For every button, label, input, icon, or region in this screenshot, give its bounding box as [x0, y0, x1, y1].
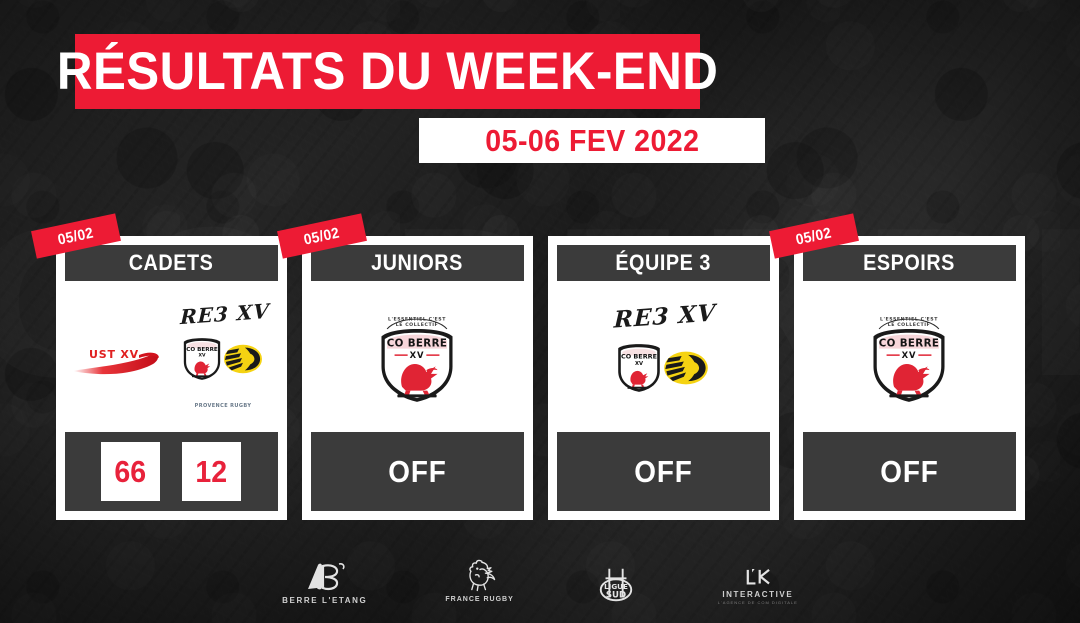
re3-xv-logo: RE3 XV CO BERRE XV [605, 299, 721, 415]
category-label: CADETS [129, 250, 214, 276]
card-status-strip: OFF [803, 432, 1016, 511]
date-ribbon-label: 05/02 [56, 224, 95, 248]
result-card-equipe-3[interactable]: ÉQUIPE 3 RE3 XV CO BERRE XV [548, 236, 779, 520]
card-header: JUNIORS [311, 245, 524, 281]
re3-xv-script: RE3 XV [175, 298, 276, 329]
svg-text:XV: XV [635, 360, 643, 366]
sponsor-france-rugby: FRANCE RUGBY [445, 556, 513, 605]
result-card-espoirs[interactable]: 05/02 ESPOIRS L'ESSENTIEL C'EST LE COLLE… [794, 236, 1025, 520]
ust-xv-logo: UST XV [69, 331, 165, 383]
sponsor-berre-letang: BERRE L'ETANG [282, 560, 367, 605]
svg-text:XV: XV [902, 349, 917, 359]
category-label: ESPOIRS [863, 250, 955, 276]
provence-rugby-label: PROVENCE RUGBY [173, 403, 273, 409]
sponsor-label: BERRE L'ETANG [282, 596, 367, 605]
poster-canvas: CO BERRE RÉSULTATS DU WEEK-END 05-06 FEV… [0, 0, 1080, 623]
status-label: OFF [634, 454, 693, 490]
status-label: OFF [388, 454, 447, 490]
date-range-text: 05-06 FEV 2022 [485, 123, 699, 159]
card-status-strip: OFF [311, 432, 524, 511]
svg-text:CO BERRE: CO BERRE [387, 337, 448, 349]
co-berre-xv-crest: L'ESSENTIEL C'EST LE COLLECTIF CO BERRE … [866, 308, 952, 406]
co-berre-crest-small: CO BERRE XV [616, 342, 662, 394]
card-header: ESPOIRS [803, 245, 1016, 281]
svg-text:LE COLLECTIF: LE COLLECTIF [888, 322, 931, 328]
card-logos: RE3 XV CO BERRE XV [557, 281, 770, 432]
sponsor-label: FRANCE RUGBY [445, 596, 513, 605]
card-logos: UST XV RE3 XV CO BERRE XV [65, 281, 278, 432]
card-header: ÉQUIPE 3 [557, 245, 770, 281]
result-card-cadets[interactable]: 05/02 CADETS [56, 236, 287, 520]
co-berre-xv-crest: L'ESSENTIEL C'EST LE COLLECTIF CO BERRE … [374, 308, 460, 406]
sponsor-label: INTERACTIVE [722, 590, 793, 599]
page-title-banner: RÉSULTATS DU WEEK-END [75, 34, 700, 109]
score-away-box: 12 [182, 442, 241, 501]
sponsor-lk-interactive: INTERACTIVE L'AGENCE DE COM DIGITALE [718, 567, 798, 605]
card-logos: L'ESSENTIEL C'EST LE COLLECTIF CO BERRE … [803, 281, 1016, 432]
svg-text:L'ESSENTIEL C'EST: L'ESSENTIEL C'EST [880, 316, 938, 322]
re3-xv-logo: RE3 XV CO BERRE XV [173, 302, 273, 412]
category-label: JUNIORS [371, 250, 463, 276]
ust-xv-label: UST XV [89, 348, 139, 361]
re3-xv-club-logos: CO BERRE XV [605, 333, 721, 403]
card-status-strip: OFF [557, 432, 770, 511]
card-logos: L'ESSENTIEL C'EST LE COLLECTIF CO BERRE … [311, 281, 524, 432]
provence-rugby-logo [222, 340, 264, 378]
svg-text:CO BERRE: CO BERRE [879, 337, 940, 349]
page-title: RÉSULTATS DU WEEK-END [57, 41, 718, 102]
sponsor-ligue-sud: LIGUE SUD [592, 565, 640, 605]
sponsor-row: BERRE L'ETANG FRANCE RUGBY [0, 556, 1080, 605]
svg-text:LE COLLECTIF: LE COLLECTIF [396, 322, 439, 328]
france-rugby-rooster-logo [460, 556, 500, 594]
ligue-sud-logo: LIGUE SUD [592, 565, 640, 605]
svg-text:CO BERRE: CO BERRE [621, 352, 657, 360]
co-berre-crest-small: CO BERRE XV [182, 336, 222, 382]
svg-text:SUD: SUD [606, 590, 626, 600]
sponsor-tagline: L'AGENCE DE COM DIGITALE [718, 600, 798, 605]
re3-xv-club-logos: CO BERRE XV [173, 328, 273, 390]
date-ribbon-label: 05/02 [302, 224, 341, 248]
svg-text:XV: XV [198, 352, 205, 358]
score-home: 66 [115, 454, 147, 490]
card-score-strip: 66 12 [65, 432, 278, 511]
status-label: OFF [880, 454, 939, 490]
berre-letang-logo [298, 560, 352, 594]
category-label: ÉQUIPE 3 [615, 250, 711, 276]
card-header: CADETS [65, 245, 278, 281]
score-away: 12 [196, 454, 228, 490]
svg-text:CO BERRE: CO BERRE [186, 346, 218, 352]
svg-text:L'ESSENTIEL C'EST: L'ESSENTIEL C'EST [388, 316, 446, 322]
result-card-juniors[interactable]: 05/02 JUNIORS L'ESSENTIEL C'EST LE COLLE… [302, 236, 533, 520]
results-card-row: 05/02 CADETS [0, 236, 1080, 520]
svg-text:XV: XV [410, 349, 425, 359]
lk-interactive-logo [741, 567, 775, 588]
re3-xv-script: RE3 XV [607, 298, 724, 333]
provence-rugby-logo [662, 346, 710, 390]
score-home-box: 66 [101, 442, 160, 501]
date-range-banner: 05-06 FEV 2022 [419, 118, 765, 163]
date-ribbon-label: 05/02 [794, 224, 833, 248]
